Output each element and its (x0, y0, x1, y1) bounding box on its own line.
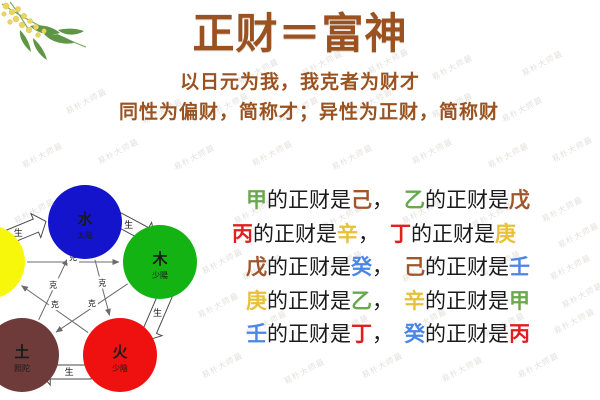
watermark-text: 易朴大师最 (360, 350, 405, 381)
infographic-canvas: 易朴大师最易朴大师最易朴大师最易朴大师最易朴大师最易朴大师最易朴大师最易朴大师最… (0, 0, 600, 400)
subtitle-line-1: 以日元为我，我克者为财才 (0, 68, 600, 96)
stem-row: 戊的正财是癸，己的正财是壬 (232, 251, 600, 285)
connector-text: 的正财是 (267, 289, 351, 313)
element-phase-wood: 少陽 (152, 271, 168, 280)
watermark-text: 易朴大师最 (410, 136, 455, 167)
stem-left: 甲 (246, 188, 267, 212)
separator: ， (372, 289, 393, 313)
wealth-stem-left: 丁 (351, 322, 372, 346)
stem-right: 乙 (404, 188, 425, 212)
separator: ， (372, 255, 393, 279)
stem-relationship-list: 甲的正财是己，乙的正财是戊丙的正财是辛，丁的正财是庚戊的正财是癸，己的正财是壬庚… (232, 184, 600, 352)
overcome-label: 克 (98, 279, 106, 288)
watermark-text: 易朴大师最 (550, 134, 595, 165)
wealth-stem-right: 丙 (509, 322, 530, 346)
element-phase-fire: 少陰 (112, 363, 128, 373)
watermark-text: 易朴大师最 (250, 138, 295, 169)
connector-text: 的正财是 (267, 322, 351, 346)
five-elements-diagram: 克克克克克 生生生生生 水太陰木少陽火少陰土照陀金太陽 (0, 170, 210, 400)
watermark-text: 易朴大师最 (20, 140, 65, 171)
stem-row: 甲的正财是己，乙的正财是戊 (232, 184, 600, 218)
generate-label: 生 (65, 366, 74, 378)
element-name-water: 水 (77, 210, 93, 228)
stem-row: 丙的正财是辛，丁的正财是庚 (232, 218, 600, 252)
watermark-text: 易朴大师最 (330, 142, 375, 173)
watermark-text: 易朴大师最 (172, 142, 217, 173)
connector-text: 的正财是 (425, 289, 509, 313)
connector-text: 的正财是 (425, 255, 509, 279)
overcome-label: 克 (88, 299, 96, 308)
stem-left: 戊 (246, 255, 267, 279)
subtitle-line-2: 同性为偏财，简称才；异性为正财，简称财 (18, 98, 600, 126)
generate-label: 生 (153, 307, 162, 319)
wealth-stem-right: 庚 (495, 222, 516, 246)
watermark-text: 易朴大师最 (486, 140, 531, 171)
connector-text: 的正财是 (267, 188, 351, 212)
element-name-earth: 土 (14, 343, 29, 361)
wealth-stem-left: 己 (351, 188, 372, 212)
stem-left: 丙 (232, 222, 253, 246)
separator: ， (372, 322, 393, 346)
header: 正财＝富神 以日元为我，我克者为财才 同性为偏财，简称才；异性为正财，简称财 (0, 0, 600, 126)
wealth-stem-right: 壬 (509, 255, 530, 279)
watermark-text: 易朴大师最 (516, 350, 561, 381)
connector-text: 的正财是 (425, 188, 509, 212)
stem-right: 己 (404, 255, 425, 279)
wealth-stem-left: 乙 (351, 289, 372, 313)
stem-row: 壬的正财是丁，癸的正财是丙 (232, 318, 600, 352)
wealth-stem-left: 辛 (337, 222, 358, 246)
connector-text: 的正财是 (267, 255, 351, 279)
element-phase-water: 太陰 (77, 230, 93, 240)
overcome-label: 克 (51, 300, 59, 309)
separator: ， (372, 188, 393, 212)
wealth-stem-left: 癸 (351, 255, 372, 279)
generate-label: 生 (124, 219, 133, 231)
wealth-stem-right: 戊 (509, 188, 530, 212)
connector-text: 的正财是 (411, 222, 495, 246)
stem-right: 癸 (404, 322, 425, 346)
stem-left: 壬 (246, 322, 267, 346)
stem-right: 丁 (390, 222, 411, 246)
stem-right: 辛 (404, 289, 425, 313)
element-phase-earth: 照陀 (14, 363, 30, 373)
watermark-text: 易朴大师最 (282, 356, 327, 387)
element-name-fire: 火 (112, 343, 128, 361)
element-name-wood: 木 (151, 250, 168, 268)
stem-row: 庚的正财是乙，辛的正财是甲 (232, 285, 600, 319)
separator: ， (358, 222, 379, 246)
connector-text: 的正财是 (253, 222, 337, 246)
wealth-stem-right: 甲 (509, 289, 530, 313)
stem-left: 庚 (246, 289, 267, 313)
watermark-text: 易朴大师最 (96, 136, 141, 167)
page-title: 正财＝富神 (0, 6, 600, 62)
watermark-text: 易朴大师最 (440, 354, 485, 385)
connector-text: 的正财是 (425, 322, 509, 346)
overcome-label: 克 (49, 280, 57, 289)
